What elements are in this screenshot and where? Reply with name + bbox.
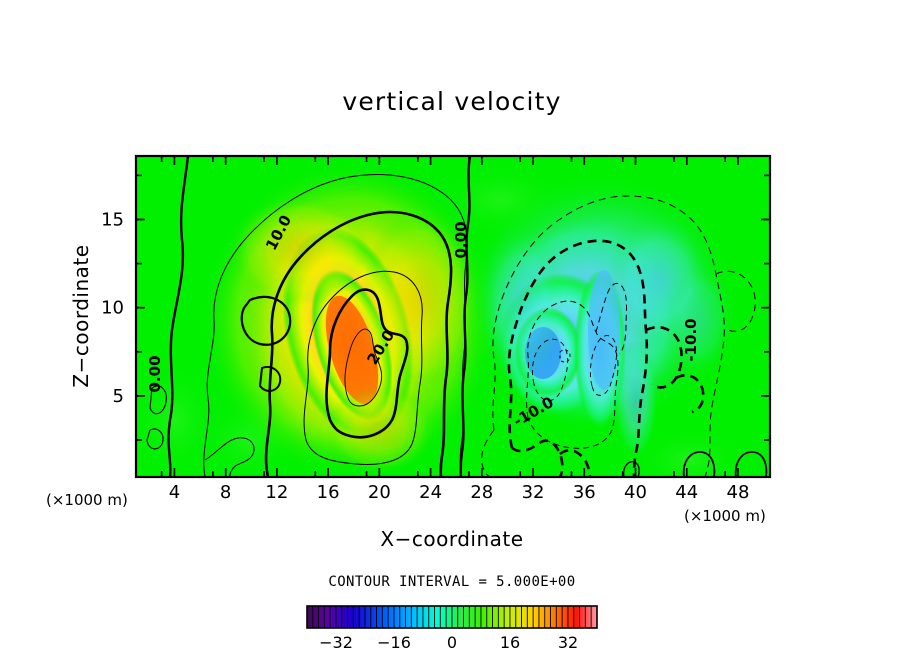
y-axis-title: Z−coordinate bbox=[69, 244, 93, 387]
x-tick-label: 4 bbox=[169, 482, 180, 503]
x-axis-title: X−coordinate bbox=[380, 527, 523, 551]
figure-canvas: vertical velocity bbox=[0, 0, 904, 654]
contour-figure: vertical velocity bbox=[0, 0, 904, 654]
x-tick-label: 28 bbox=[470, 482, 493, 503]
x-tick-label: 16 bbox=[317, 482, 340, 503]
colorbar-tick-label: −16 bbox=[377, 633, 411, 652]
colorbar-band-separators bbox=[307, 606, 597, 628]
x-tick-label: 44 bbox=[675, 482, 698, 503]
colorbar-tick-label: 16 bbox=[500, 633, 520, 652]
contour-interval-caption: CONTOUR INTERVAL = 5.000E+00 bbox=[328, 574, 575, 590]
y-unit-label: (×1000 m) bbox=[46, 491, 128, 509]
y-tick-label: 15 bbox=[101, 209, 124, 230]
x-tick-label: 24 bbox=[419, 482, 442, 503]
colorbar-tick-label: 0 bbox=[447, 633, 457, 652]
x-tick-label: 48 bbox=[727, 482, 750, 503]
contour-label-0-center: 0.00 bbox=[452, 221, 470, 258]
x-unit-label: (×1000 m) bbox=[684, 507, 766, 525]
x-tick-label: 8 bbox=[220, 482, 231, 503]
x-tick-label: 32 bbox=[522, 482, 545, 503]
colorbar-tick-label: 32 bbox=[558, 633, 578, 652]
x-tick-label: 20 bbox=[368, 482, 391, 503]
y-tick-label: 5 bbox=[113, 386, 124, 407]
colorbar-tick-label: −32 bbox=[319, 633, 353, 652]
y-tick-label: 10 bbox=[101, 298, 124, 319]
plot-area: 0.00 10.0 20.0 0.00 -10.0 -10.0 bbox=[130, 156, 770, 495]
contour-label-0-left: 0.00 bbox=[146, 355, 164, 392]
x-tick-label: 36 bbox=[573, 482, 596, 503]
contour-label-neg10-right: -10.0 bbox=[682, 318, 700, 361]
figure-title: vertical velocity bbox=[342, 87, 561, 116]
x-tick-label: 40 bbox=[624, 482, 647, 503]
x-tick-label: 12 bbox=[265, 482, 288, 503]
